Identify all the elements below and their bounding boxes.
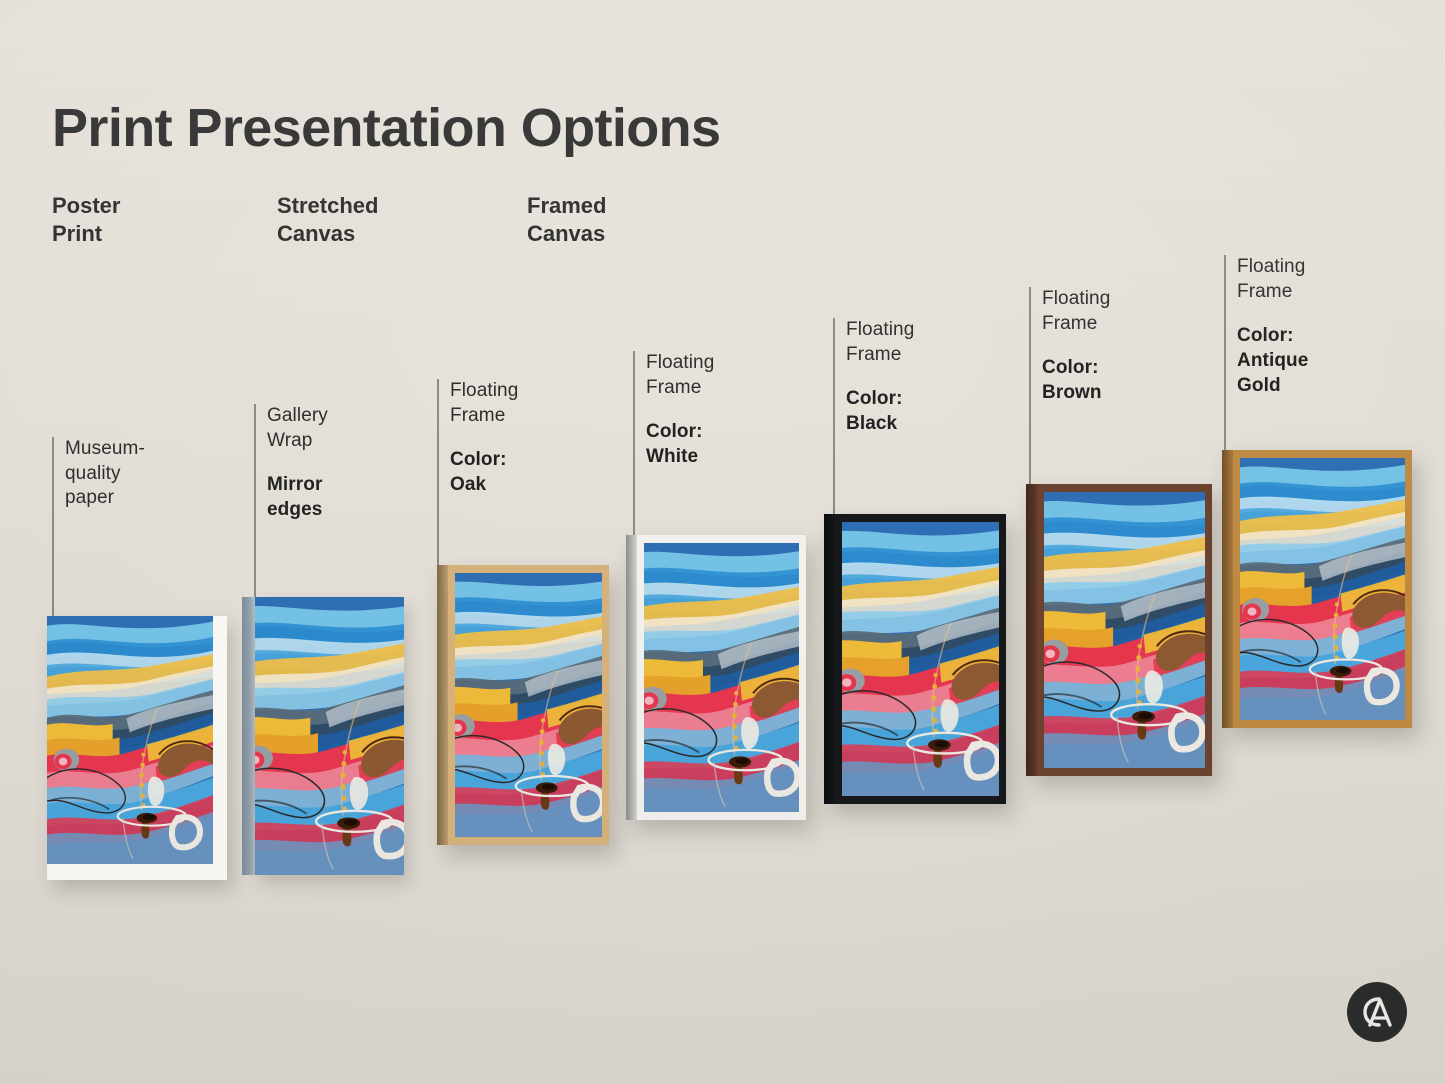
callout-detail: Gallery Wrap xyxy=(267,404,417,453)
frame-depth-edge xyxy=(626,535,637,820)
floating-frame-oak xyxy=(437,565,609,845)
presentation-canvas: Print Presentation Options Poster Print … xyxy=(0,0,1445,1084)
frame-depth-edge xyxy=(824,514,835,804)
leader-line xyxy=(633,351,635,539)
callout-detail: Floating Frame xyxy=(450,379,600,428)
artwork-image xyxy=(644,543,799,812)
page-title: Print Presentation Options xyxy=(52,100,720,157)
leader-line xyxy=(254,404,256,600)
frame-depth-edge xyxy=(1026,484,1037,776)
artwork-image xyxy=(1240,458,1405,720)
category-poster-print: Poster Print xyxy=(52,192,120,248)
callout-emphasis: Color: Black xyxy=(846,387,996,436)
callout-emphasis: Color: Brown xyxy=(1042,356,1192,405)
frame-artwork-window xyxy=(1044,492,1205,768)
callout-detail: Floating Frame xyxy=(1042,287,1192,336)
ca-monogram-logo xyxy=(1347,982,1407,1042)
callout-emphasis: Color: Oak xyxy=(450,448,600,497)
frame-depth-edge xyxy=(437,565,448,845)
option-preview-stretched-canvas[interactable] xyxy=(242,597,404,875)
artwork-image xyxy=(842,522,999,796)
option-preview-framed-oak[interactable] xyxy=(437,565,609,845)
leader-line xyxy=(52,437,54,627)
canvas-face xyxy=(255,597,404,875)
artwork-image xyxy=(255,597,404,875)
callout-detail: Museum- quality paper xyxy=(65,437,215,511)
artwork-image xyxy=(47,616,213,864)
frame-depth-edge xyxy=(1222,450,1233,728)
option-preview-poster-print[interactable] xyxy=(47,616,227,880)
floating-frame-white xyxy=(626,535,806,820)
callout-emphasis: Mirror edges xyxy=(267,473,417,522)
option-preview-framed-brown[interactable] xyxy=(1026,484,1212,776)
category-framed-canvas: Framed Canvas xyxy=(527,192,606,248)
leader-line xyxy=(437,379,439,569)
frame-artwork-window xyxy=(644,543,799,812)
callout-emphasis: Color: White xyxy=(646,420,796,469)
poster-paper xyxy=(47,616,227,880)
callout-detail: Floating Frame xyxy=(646,351,796,400)
artwork-image xyxy=(455,573,602,837)
leader-line xyxy=(833,318,835,516)
option-preview-framed-white[interactable] xyxy=(626,535,806,820)
canvas-wrapped-edge xyxy=(242,597,255,875)
floating-frame-black xyxy=(824,514,1006,804)
callout-detail: Floating Frame xyxy=(846,318,996,367)
option-preview-framed-black[interactable] xyxy=(824,514,1006,804)
callout-detail: Floating Frame xyxy=(1237,255,1387,304)
frame-artwork-window xyxy=(455,573,602,837)
frame-artwork-window xyxy=(1240,458,1405,720)
leader-line xyxy=(1029,287,1031,485)
option-preview-framed-antique-gold[interactable] xyxy=(1222,450,1412,728)
leader-line xyxy=(1224,255,1226,455)
category-stretched-canvas: Stretched Canvas xyxy=(277,192,378,248)
floating-frame-brown xyxy=(1026,484,1212,776)
callout-emphasis: Color: Antique Gold xyxy=(1237,324,1387,398)
frame-artwork-window xyxy=(842,522,999,796)
artwork-image xyxy=(1044,492,1205,768)
ca-monogram-icon xyxy=(1355,990,1399,1034)
floating-frame-antique-gold xyxy=(1222,450,1412,728)
